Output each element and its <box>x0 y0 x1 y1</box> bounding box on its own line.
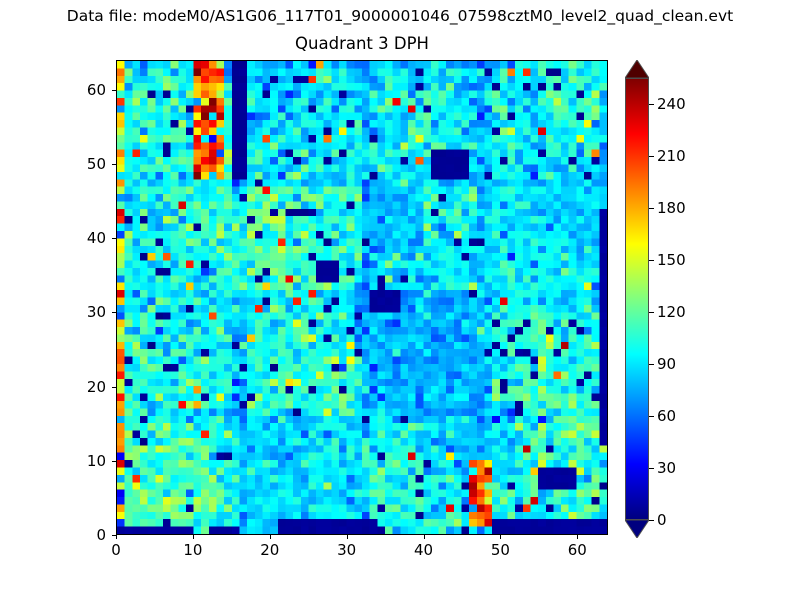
y-tick-mark <box>112 164 116 165</box>
colorbar-tick-label: 210 <box>657 148 686 164</box>
x-tick-label: 20 <box>260 542 279 558</box>
colorbar-tick-label: 240 <box>657 96 686 112</box>
colorbar-tick-label: 150 <box>657 252 686 268</box>
y-tick-label: 40 <box>74 230 106 246</box>
plot-title: Quadrant 3 DPH <box>116 33 608 54</box>
x-tick-label: 60 <box>568 542 587 558</box>
colorbar-tick-mark <box>649 312 654 313</box>
y-tick-label: 10 <box>74 453 106 469</box>
heatmap-image[interactable] <box>117 61 607 534</box>
colorbar-gradient <box>626 79 648 519</box>
y-tick-label: 0 <box>74 527 106 543</box>
x-tick-mark <box>577 535 578 539</box>
colorbar[interactable]: 0306090120150180210240 <box>625 60 649 538</box>
y-tick-label: 20 <box>74 379 106 395</box>
y-tick-label: 30 <box>74 304 106 320</box>
heatmap-axes[interactable] <box>116 60 608 535</box>
y-tick-mark <box>112 387 116 388</box>
colorbar-tick-label: 120 <box>657 304 686 320</box>
colorbar-tick-mark <box>649 468 654 469</box>
colorbar-tick-mark <box>649 364 654 365</box>
y-tick-label: 60 <box>74 82 106 98</box>
x-tick-label: 30 <box>337 542 356 558</box>
x-tick-label: 0 <box>111 542 121 558</box>
colorbar-tick-mark <box>649 208 654 209</box>
colorbar-over-arrow-icon <box>625 60 649 78</box>
y-tick-label: 50 <box>74 156 106 172</box>
colorbar-tick-mark <box>649 416 654 417</box>
x-tick-mark <box>347 535 348 539</box>
colorbar-tick-label: 60 <box>657 408 676 424</box>
y-tick-mark <box>112 238 116 239</box>
colorbar-tick-label: 30 <box>657 460 676 476</box>
y-tick-mark <box>112 535 116 536</box>
x-tick-mark <box>270 535 271 539</box>
x-tick-label: 50 <box>491 542 510 558</box>
data-file-label: Data file: modeM0/AS1G06_117T01_90000010… <box>0 6 800 26</box>
colorbar-tick-mark <box>649 520 654 521</box>
x-tick-mark <box>193 535 194 539</box>
y-tick-mark <box>112 461 116 462</box>
y-tick-mark <box>112 312 116 313</box>
y-tick-mark <box>112 90 116 91</box>
colorbar-tick-label: 90 <box>657 356 676 372</box>
colorbar-tick-mark <box>649 260 654 261</box>
colorbar-under-arrow-icon <box>625 520 649 538</box>
colorbar-body <box>625 78 649 520</box>
x-tick-label: 10 <box>183 542 202 558</box>
colorbar-tick-mark <box>649 104 654 105</box>
x-tick-mark <box>116 535 117 539</box>
x-tick-label: 40 <box>414 542 433 558</box>
x-tick-mark <box>500 535 501 539</box>
colorbar-tick-label: 0 <box>657 512 667 528</box>
x-tick-mark <box>424 535 425 539</box>
colorbar-tick-label: 180 <box>657 200 686 216</box>
colorbar-tick-mark <box>649 156 654 157</box>
